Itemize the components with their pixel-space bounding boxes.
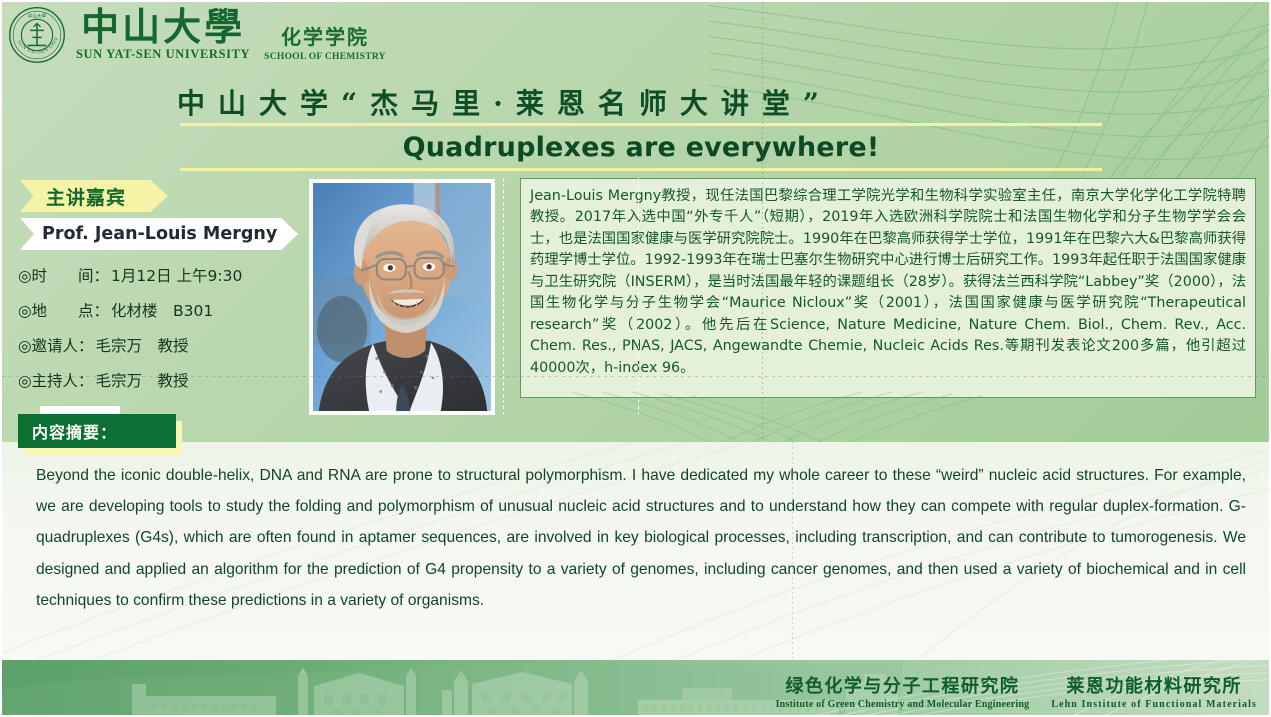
- school-name-cn: 化学学院: [281, 21, 369, 50]
- footer-band: 绿色化学与分子工程研究院 Institute of Green Chemistr…: [2, 660, 1271, 715]
- event-details-list: ◎时 间： 1月12日 上午9:30 ◎地 点： 化材楼 B301 ◎邀请人： …: [18, 264, 308, 404]
- institute-lehn-functional-materials: 莱恩功能材料研究所 Lehn Institute of Functional M…: [1051, 672, 1257, 710]
- institute-name-en: Institute of Green Chemistry and Molecul…: [776, 699, 1030, 710]
- detail-value: 化材楼 B301: [111, 299, 213, 321]
- abstract-text: Beyond the iconic double-helix, DNA and …: [36, 460, 1246, 616]
- sun-yat-sen-university-seal-icon: 中山大學 SUN YAT-SEN UNIVERSITY: [8, 6, 66, 64]
- speaker-name-ribbon: Prof. Jean-Louis Mergny: [20, 218, 298, 250]
- institute-name-cn: 莱恩功能材料研究所: [1066, 672, 1242, 698]
- detail-label: ◎邀请人：: [18, 334, 94, 356]
- svg-text:中山大學: 中山大學: [28, 13, 47, 20]
- guest-speaker-tag: 主讲嘉宾: [20, 180, 168, 212]
- speaker-portrait: [313, 183, 491, 411]
- list-item: ◎地 点： 化材楼 B301: [18, 299, 308, 321]
- university-branding: 中山大學 SUN YAT-SEN UNIVERSITY 中山大學 SUN YAT…: [8, 6, 386, 64]
- speaker-bio-text: Jean-Louis Mergny教授，现任法国巴黎综合理工学院光学和生物科学实…: [530, 186, 1246, 379]
- institute-name-en: Lehn Institute of Functional Materials: [1051, 699, 1257, 710]
- list-item: ◎主持人： 毛宗万 教授: [18, 369, 308, 391]
- title-divider-bottom: [180, 168, 1102, 171]
- footer-institutes: 绿色化学与分子工程研究院 Institute of Green Chemistr…: [776, 672, 1257, 710]
- talk-title-en: Quadruplexes are everywhere!: [180, 132, 1102, 163]
- guest-speaker-tag-label: 主讲嘉宾: [46, 183, 126, 210]
- seminar-poster: 中山大學 SUN YAT-SEN UNIVERSITY 中山大學 SUN YAT…: [0, 0, 1271, 717]
- abstract-tag: 内容摘要：: [18, 414, 176, 448]
- list-item: ◎时 间： 1月12日 上午9:30: [18, 264, 308, 286]
- detail-label: ◎地 点：: [18, 299, 109, 321]
- abstract-tag-label: 内容摘要：: [32, 419, 117, 443]
- detail-value: 毛宗万 教授: [96, 369, 189, 391]
- institute-name-cn: 绿色化学与分子工程研究院: [785, 672, 1019, 698]
- institute-green-chemistry: 绿色化学与分子工程研究院 Institute of Green Chemistr…: [776, 672, 1030, 710]
- speaker-bio-box: Jean-Louis Mergny教授，现任法国巴黎综合理工学院光学和生物科学实…: [520, 178, 1256, 398]
- list-item: ◎邀请人： 毛宗万 教授: [18, 334, 308, 356]
- speaker-name-label: Prof. Jean-Louis Mergny: [42, 224, 277, 244]
- school-name-en: SCHOOL OF CHEMISTRY: [264, 52, 386, 62]
- detail-label: ◎时 间：: [18, 264, 109, 286]
- detail-value: 毛宗万 教授: [96, 334, 189, 356]
- detail-label: ◎主持人：: [18, 369, 94, 391]
- title-divider-top: [180, 123, 1102, 126]
- university-name-en: SUN YAT-SEN UNIVERSITY: [76, 47, 250, 62]
- speaker-photo-frame: [310, 180, 494, 414]
- university-name-cn: 中山大學: [81, 8, 245, 47]
- slide-guide-vertical: [503, 178, 504, 414]
- lecture-series-title-cn: 中山大学“杰马里·莱恩名师大讲堂”: [177, 82, 1097, 122]
- detail-value: 1月12日 上午9:30: [111, 264, 242, 286]
